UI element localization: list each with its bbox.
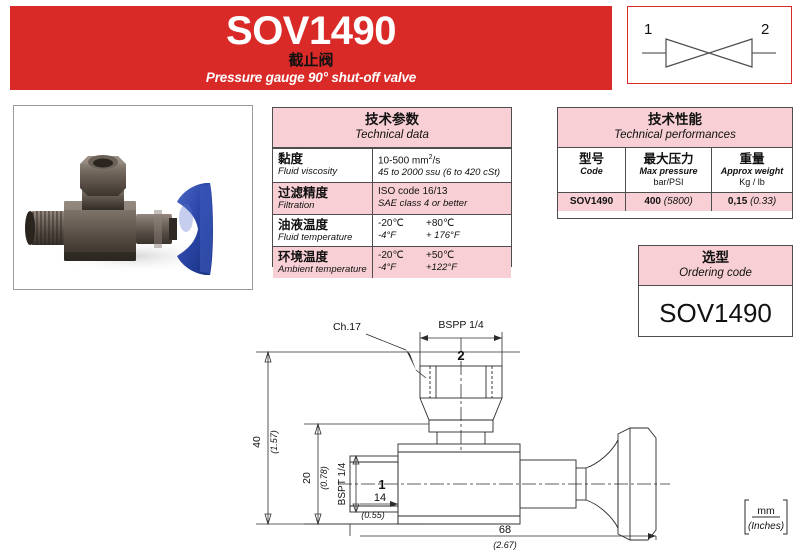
column-header-max-pressure: 最大压力 Max pressure bar/PSI: [626, 148, 712, 192]
label-en: Ambient temperature: [278, 264, 368, 275]
header-cn: 重量: [714, 152, 790, 166]
dimension-height-port-value: 20: [301, 472, 313, 484]
value-min-fahrenheit: -4°F: [378, 262, 426, 274]
symbol-port-2-label: 2: [761, 21, 769, 38]
column-header-weight: 重量 Approx weight Kg / lb: [712, 148, 792, 192]
label-en: Fluid temperature: [278, 232, 368, 243]
page-title: SOV1490: [226, 11, 396, 51]
label-cn: 油液温度: [278, 218, 368, 232]
page-subtitle: Pressure gauge 90° shut-off valve: [206, 70, 416, 85]
photo-top-port: [80, 155, 126, 210]
value-max-fahrenheit: + 176°F: [426, 230, 460, 242]
label-bspt: BSPT 1/4: [337, 462, 348, 505]
value-min-celsius: -20℃: [378, 250, 426, 262]
table-row: 环境温度 Ambient temperature -20℃ +50℃ -4°F …: [273, 246, 511, 278]
cell-code: SOV1490: [558, 193, 626, 211]
product-photo: [13, 105, 253, 290]
technical-performances-header-en: Technical performances: [560, 128, 790, 142]
hydraulic-symbol-box: 1 2: [627, 6, 792, 84]
label-bspp: BSPP 1/4: [438, 319, 483, 331]
value-min-celsius: -20℃: [378, 218, 426, 230]
table-row: 黏度 Fluid viscosity 10-500 mm2/s 45 to 20…: [273, 148, 511, 182]
header-unit: bar/PSI: [628, 177, 709, 188]
symbol-port-1-label: 1: [644, 21, 652, 38]
header-en: Approx weight: [714, 166, 790, 177]
dimensional-drawing: BSPP 1/4 Ch.17 2 1 40 (1.57) 20 (0.78) B…: [230, 292, 680, 550]
valve-photo-illustration: [14, 106, 252, 289]
dimension-length-total-value: 68: [499, 524, 511, 536]
table-row: 过滤精度 Filtration ISO code 16/13 SAE class…: [273, 182, 511, 214]
column-header-code: 型号 Code: [558, 148, 626, 192]
row-label-viscosity: 黏度 Fluid viscosity: [273, 149, 373, 182]
photo-threaded-stub: [25, 211, 66, 245]
label-ch17: Ch.17: [333, 321, 361, 333]
table-row: SOV1490 400 (5800) 0,15 (0.33): [558, 193, 792, 211]
value-secondary: 45 to 2000 ssu (6 to 420 cSt): [378, 167, 507, 179]
page-title-chinese: 截止阀: [288, 52, 333, 69]
units-legend-bracket: mm (Inches): [742, 496, 790, 538]
shut-off-valve-symbol-icon: 1 2: [628, 7, 790, 82]
datasheet-page: SOV1490 截止阀 Pressure gauge 90° shut-off …: [0, 0, 800, 552]
dimension-length-total-inches: (2.67): [493, 540, 517, 550]
label-cn: 过滤精度: [278, 186, 368, 200]
valve-dimensional-drawing: BSPP 1/4 Ch.17 2 1 40 (1.57) 20 (0.78) B…: [230, 292, 680, 550]
header-cn: 最大压力: [628, 152, 709, 166]
units-secondary: (Inches): [748, 521, 784, 532]
table-row: 油液温度 Fluid temperature -20℃ +80℃ -4°F + …: [273, 214, 511, 246]
ordering-code-header-cn: 选型: [641, 250, 790, 266]
technical-data-header-cn: 技术参数: [275, 112, 509, 128]
dimension-width-port-inches: (0.55): [361, 510, 385, 520]
cell-weight: 0,15 (0.33): [712, 193, 792, 211]
label-en: Filtration: [278, 200, 368, 211]
table-header-row: 型号 Code 最大压力 Max pressure bar/PSI 重量 App…: [558, 148, 792, 193]
header-cn: 型号: [560, 152, 623, 166]
leader-ch17: [366, 334, 426, 378]
ordering-code-header-en: Ordering code: [641, 266, 790, 280]
row-label-ambient-temperature: 环境温度 Ambient temperature: [273, 247, 373, 278]
row-value-filtration: ISO code 16/13 SAE class 4 or better: [373, 183, 511, 214]
row-label-filtration: 过滤精度 Filtration: [273, 183, 373, 214]
value-secondary: SAE class 4 or better: [378, 198, 507, 210]
dimension-height-port-inches: (0.78): [319, 466, 329, 490]
value-primary: 10-500 mm2/s: [378, 152, 507, 167]
technical-performances-header: 技术性能 Technical performances: [558, 108, 792, 148]
value-max-celsius: +80℃: [426, 218, 454, 230]
technical-data-header: 技术参数 Technical data: [273, 108, 511, 148]
label-port-1: 1: [378, 477, 385, 492]
row-label-fluid-temperature: 油液温度 Fluid temperature: [273, 215, 373, 246]
value-max-fahrenheit: +122°F: [426, 262, 457, 274]
label-en: Fluid viscosity: [278, 166, 368, 177]
row-value-ambient-temperature: -20℃ +50℃ -4°F +122°F: [373, 247, 511, 278]
value-max-celsius: +50℃: [426, 250, 454, 262]
label-port-2: 2: [457, 348, 464, 363]
row-value-fluid-temperature: -20℃ +80℃ -4°F + 176°F: [373, 215, 511, 246]
value-min-fahrenheit: -4°F: [378, 230, 426, 242]
photo-stem: [136, 210, 177, 248]
header-unit: Kg / lb: [714, 177, 790, 188]
technical-data-table: 技术参数 Technical data 黏度 Fluid viscosity 1…: [272, 107, 512, 267]
header-banner: SOV1490 截止阀 Pressure gauge 90° shut-off …: [10, 6, 612, 90]
units-legend: mm (Inches): [742, 496, 790, 538]
cell-max-pressure: 400 (5800): [626, 193, 712, 211]
dimension-height-total-value: 40: [251, 436, 263, 448]
ordering-code-header: 选型 Ordering code: [639, 246, 792, 286]
header-en: Code: [560, 166, 623, 177]
value-primary: ISO code 16/13: [378, 186, 507, 198]
dimension-height-total: [256, 352, 520, 524]
row-value-viscosity: 10-500 mm2/s 45 to 2000 ssu (6 to 420 cS…: [373, 149, 511, 182]
technical-performances-table: 技术性能 Technical performances 型号 Code 最大压力…: [557, 107, 793, 219]
technical-data-header-en: Technical data: [275, 128, 509, 142]
dimension-height-total-inches: (1.57): [269, 430, 279, 454]
dimension-width-port-value: 14: [374, 492, 386, 504]
technical-performances-header-cn: 技术性能: [560, 112, 790, 128]
dimension-bspt: [353, 456, 359, 512]
label-cn: 环境温度: [278, 250, 368, 264]
units-primary: mm: [757, 505, 775, 517]
label-cn: 黏度: [278, 152, 368, 166]
header-en: Max pressure: [628, 166, 709, 177]
